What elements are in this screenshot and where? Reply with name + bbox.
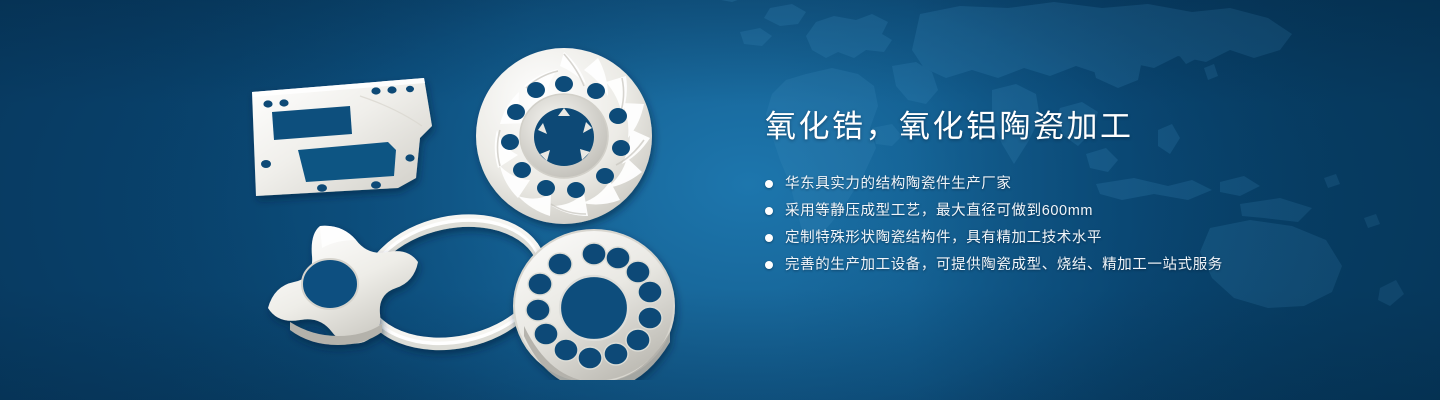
banner-text-block: 氧化锆，氧化铝陶瓷加工 华东具实力的结构陶瓷件生产厂家 采用等静压成型工艺，最大… bbox=[765, 108, 1305, 281]
feature-item-2-label: 采用等静压成型工艺，最大直径可做到600mm bbox=[785, 200, 1093, 222]
feature-item-4: 完善的生产加工设备，可提供陶瓷成型、烧结、精加工一站式服务 bbox=[765, 254, 1305, 276]
feature-list: 华东具实力的结构陶瓷件生产厂家 采用等静压成型工艺，最大直径可做到600mm 定… bbox=[765, 173, 1305, 276]
feature-item-3: 定制特殊形状陶瓷结构件，具有精加工技术水平 bbox=[765, 227, 1305, 249]
bullet-dot-icon bbox=[765, 207, 773, 215]
feature-item-1: 华东具实力的结构陶瓷件生产厂家 bbox=[765, 173, 1305, 195]
ceramic-impeller-part bbox=[476, 48, 652, 224]
feature-item-4-label: 完善的生产加工设备，可提供陶瓷成型、烧结、精加工一站式服务 bbox=[785, 254, 1223, 276]
ceramic-products-image bbox=[210, 30, 730, 380]
ceramic-perforated-disc-part bbox=[514, 230, 674, 380]
promo-banner: 氧化锆，氧化铝陶瓷加工 华东具实力的结构陶瓷件生产厂家 采用等静压成型工艺，最大… bbox=[0, 0, 1440, 400]
feature-item-2: 采用等静压成型工艺，最大直径可做到600mm bbox=[765, 200, 1305, 222]
bullet-dot-icon bbox=[765, 180, 773, 188]
bullet-dot-icon bbox=[765, 261, 773, 269]
banner-headline: 氧化锆，氧化铝陶瓷加工 bbox=[765, 108, 1305, 147]
bullet-dot-icon bbox=[765, 234, 773, 242]
feature-item-3-label: 定制特殊形状陶瓷结构件，具有精加工技术水平 bbox=[785, 227, 1102, 249]
ceramic-plate-part bbox=[252, 78, 432, 196]
feature-item-1-label: 华东具实力的结构陶瓷件生产厂家 bbox=[785, 173, 1012, 195]
